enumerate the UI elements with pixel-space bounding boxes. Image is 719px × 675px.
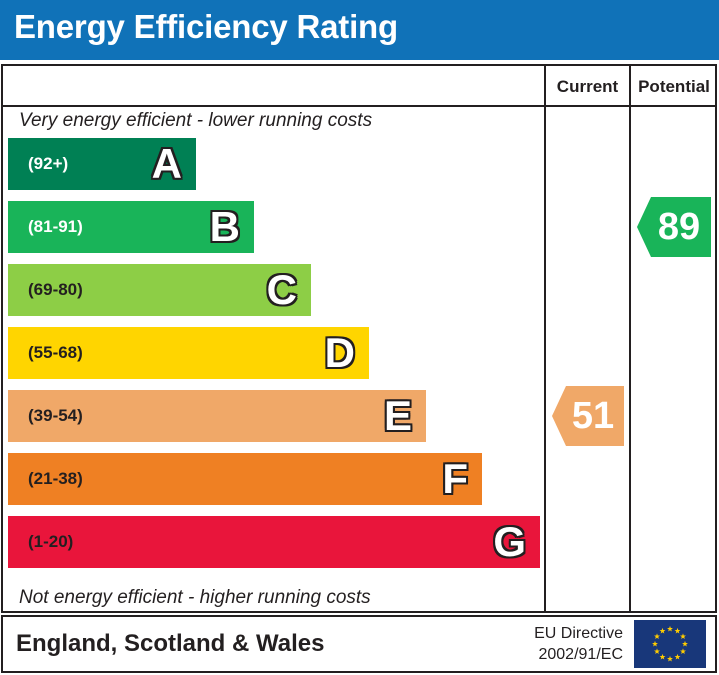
band-bar-a: (92+)A bbox=[8, 138, 196, 190]
band-range-a: (92+) bbox=[28, 154, 68, 174]
band-range-b: (81-91) bbox=[28, 217, 83, 237]
band-letter-a: A bbox=[152, 143, 182, 185]
band-range-d: (55-68) bbox=[28, 343, 83, 363]
certificate-footer: England, Scotland & Wales EU Directive 2… bbox=[1, 615, 717, 673]
energy-efficiency-rating-certificate: Energy Efficiency Rating Current Potenti… bbox=[0, 0, 719, 675]
rating-arrow-current: 51 bbox=[552, 386, 624, 446]
caption-very-efficient: Very energy efficient - lower running co… bbox=[19, 110, 372, 132]
band-range-f: (21-38) bbox=[28, 469, 83, 489]
band-bar-b: (81-91)B bbox=[8, 201, 254, 253]
footer-directive: EU Directive 2002/91/EC bbox=[534, 623, 623, 665]
band-range-g: (1-20) bbox=[28, 532, 73, 552]
rating-table: Current Potential Very energy efficient … bbox=[1, 64, 717, 613]
rating-value-potential: 89 bbox=[653, 208, 705, 246]
caption-not-efficient: Not energy efficient - higher running co… bbox=[19, 587, 371, 609]
band-letter-g: G bbox=[493, 521, 526, 563]
rating-value-current: 51 bbox=[568, 397, 618, 435]
footer-region-label: England, Scotland & Wales bbox=[16, 630, 324, 658]
band-bar-c: (69-80)C bbox=[8, 264, 311, 316]
directive-line-2: 2002/91/EC bbox=[534, 644, 623, 665]
band-range-e: (39-54) bbox=[28, 406, 83, 426]
band-letter-e: E bbox=[384, 395, 412, 437]
eu-flag-icon bbox=[634, 620, 706, 668]
band-bar-e: (39-54)E bbox=[8, 390, 426, 442]
band-letter-b: B bbox=[210, 206, 240, 248]
certificate-header: Energy Efficiency Rating bbox=[0, 0, 719, 60]
band-bar-list: (92+)A(81-91)B(69-80)C(55-68)D(39-54)E(2… bbox=[3, 138, 544, 583]
band-letter-c: C bbox=[267, 269, 297, 311]
band-bar-f: (21-38)F bbox=[8, 453, 482, 505]
header-rule bbox=[3, 105, 715, 107]
band-bar-g: (1-20)G bbox=[8, 516, 540, 568]
band-letter-f: F bbox=[442, 458, 468, 500]
column-divider-current bbox=[544, 66, 546, 611]
column-header-current: Current bbox=[546, 76, 629, 98]
column-divider-potential bbox=[629, 66, 631, 611]
band-letter-d: D bbox=[325, 332, 355, 374]
page-title: Energy Efficiency Rating bbox=[14, 8, 398, 46]
rating-arrow-potential: 89 bbox=[637, 197, 711, 257]
directive-line-1: EU Directive bbox=[534, 623, 623, 644]
column-header-potential: Potential bbox=[631, 76, 717, 98]
band-bar-d: (55-68)D bbox=[8, 327, 369, 379]
band-range-c: (69-80) bbox=[28, 280, 83, 300]
